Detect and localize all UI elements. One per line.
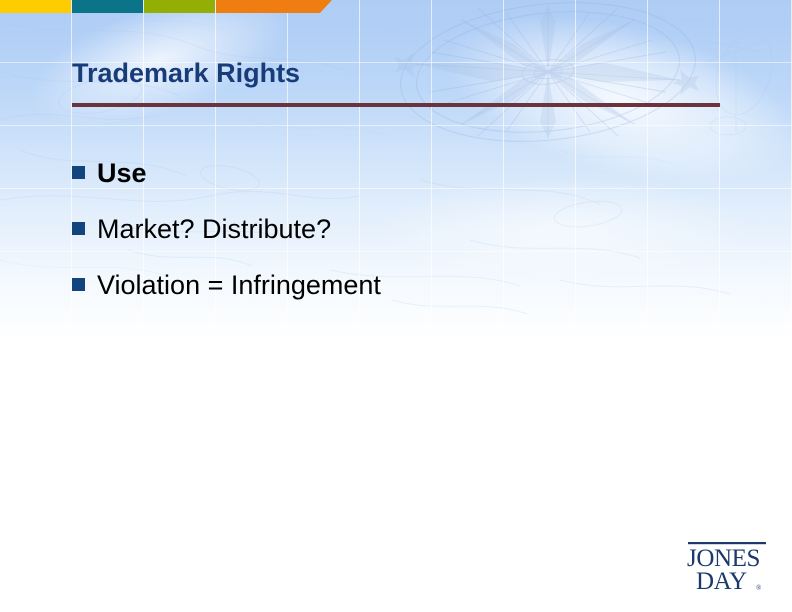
list-item: Market? Distribute? — [72, 214, 722, 245]
list-item: Use — [72, 158, 722, 189]
topbar-segment-yellow — [0, 0, 71, 13]
topbar-color-strip — [0, 0, 792, 13]
logo-line-two: DAY — [696, 568, 747, 595]
title-underline-rule — [72, 103, 720, 107]
topbar-segment-orange — [216, 0, 332, 13]
bullet-square-icon — [72, 166, 85, 179]
logo-top-rule — [688, 542, 766, 544]
presentation-slide: Trademark Rights Use Market? Distribute?… — [0, 0, 792, 612]
slide-title: Trademark Rights — [72, 58, 300, 89]
list-item: Violation = Infringement — [72, 270, 722, 301]
logo-registered-mark: ® — [756, 584, 762, 592]
jones-day-logo: JONES DAY ® — [686, 540, 768, 596]
list-item-label: Violation = Infringement — [97, 270, 381, 301]
slide-body-bullet-list: Use Market? Distribute? Violation = Infr… — [72, 158, 722, 326]
list-item-label: Use — [97, 158, 147, 189]
bullet-square-icon — [72, 278, 85, 291]
topbar-segment-olive — [144, 0, 215, 13]
bullet-square-icon — [72, 222, 85, 235]
topbar-segment-teal — [72, 0, 143, 13]
list-item-label: Market? Distribute? — [97, 214, 331, 245]
